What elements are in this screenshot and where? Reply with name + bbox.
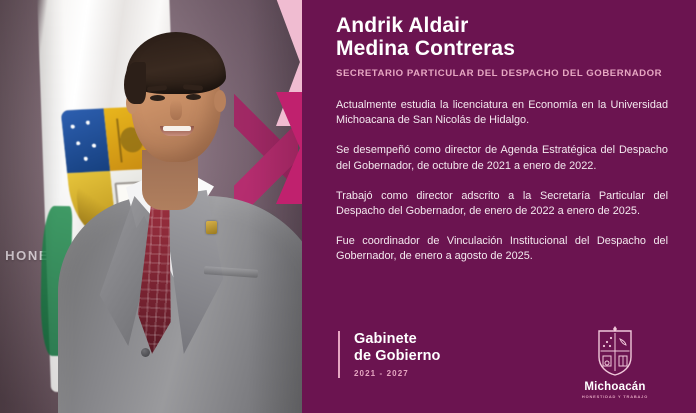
cabinet-line-2: de Gobierno [354,348,441,365]
lapel-pin-icon [206,221,217,234]
eye-right [186,94,201,100]
bio-paragraph: Se desempeñó como director de Agenda Est… [336,143,674,173]
teeth [163,126,191,131]
cabinet-term-years: 2021 - 2027 [354,369,441,378]
nose [170,100,182,120]
card-footer: Gabinete de Gobierno 2021 - 2027 [336,325,674,397]
ear-right [214,90,226,112]
info-panel: Andrik Aldair Medina Contreras SECRETARI… [302,0,696,413]
page-title: Andrik Aldair Medina Contreras [336,14,515,60]
hair-sideburn [124,62,146,104]
jacket-button [141,348,150,357]
person-figure [0,0,302,413]
job-title: SECRETARIO PARTICULAR DEL DESPACHO DEL G… [336,68,662,79]
cabinet-line-1: Gabinete [354,331,441,348]
bio-paragraph: Trabajó como director adscrito a la Secr… [336,189,674,219]
michoacan-crest-icon [595,325,635,377]
profile-card: · HONES [0,0,696,413]
state-tagline: HONESTIDAD Y TRABAJO [578,394,652,399]
michoacan-government-logo: Michoacán HONESTIDAD Y TRABAJO [578,325,652,399]
bio-paragraph: Actualmente estudia la licenciatura en E… [336,98,674,128]
bio-paragraph: Fue coordinador de Vinculación Instituci… [336,234,674,264]
cabinet-branding: Gabinete de Gobierno 2021 - 2027 [338,331,441,378]
name-line-2: Medina Contreras [336,37,515,60]
eye-left [150,95,165,101]
state-name: Michoacán [578,381,652,393]
name-line-1: Andrik Aldair [336,14,515,37]
portrait-photo: · HONES [0,0,302,413]
biography: Actualmente estudia la licenciatura en E… [336,98,674,265]
